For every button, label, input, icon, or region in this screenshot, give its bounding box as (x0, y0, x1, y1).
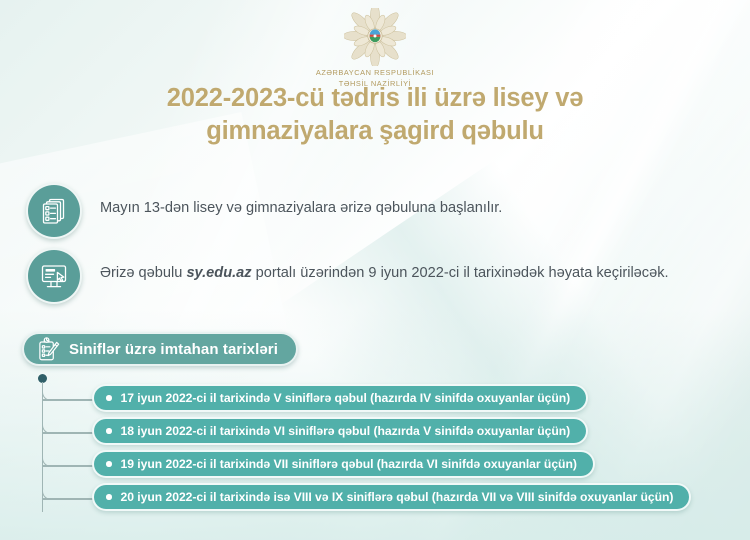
monitor-cursor-icon (26, 248, 82, 304)
list-item[interactable]: 18 iyun 2022-ci il tarixində VI siniflər… (92, 417, 588, 445)
list-item[interactable]: 19 iyun 2022-ci il tarixində VII siniflə… (92, 450, 595, 478)
list-item-label: 17 iyun 2022-ci il tarixində V siniflərə… (121, 391, 571, 405)
list-item-label: 20 iyun 2022-ci il tarixində isə VIII və… (121, 490, 674, 504)
azerbaijan-ministry-of-education-emblem-icon (344, 8, 406, 66)
bullet-icon (106, 494, 112, 500)
clipboard-pencil-icon (37, 337, 60, 362)
info-item-text-after: portalı üzərindən 9 iyun 2022-ci il tari… (252, 265, 669, 281)
list-item[interactable]: 17 iyun 2022-ci il tarixində V siniflərə… (92, 384, 588, 412)
page-title-line-2: gimnaziyalara şagird qəbulu (0, 115, 750, 148)
documents-checklist-icon (26, 183, 82, 239)
list-item-label: 19 iyun 2022-ci il tarixində VII siniflə… (121, 457, 577, 471)
page-title-line-1: 2022-2023-cü tədris ili üzrə lisey və (0, 82, 750, 115)
section-header-label: Siniflər üzrə imtahan tarixləri (69, 341, 278, 358)
list-item-label: 18 iyun 2022-ci il tarixində VI siniflər… (121, 424, 571, 438)
portal-domain: sy.edu.az (186, 265, 251, 281)
list-item[interactable]: 20 iyun 2022-ci il tarixində isə VIII və… (92, 483, 691, 511)
info-item-application-start: Mayın 13-dən lisey və gimnaziyalara əriz… (26, 183, 720, 239)
ministry-name-line-1: AZƏRBAYCAN RESPUBLİKASI (316, 68, 434, 79)
bullet-icon (106, 428, 112, 434)
info-item-text: Mayın 13-dən lisey və gimnaziyalara əriz… (100, 197, 502, 221)
info-item-text-main: Mayın 13-dən lisey və gimnaziyalara əriz… (100, 200, 502, 216)
bullet-icon (106, 395, 112, 401)
info-item-text-before: Ərizə qəbulu (100, 265, 186, 281)
page-title: 2022-2023-cü tədris ili üzrə lisey və gi… (0, 82, 750, 147)
section-header-exam-dates: Siniflər üzrə imtahan tarixləri (22, 332, 298, 366)
infographic-poster: AZƏRBAYCAN RESPUBLİKASI TƏHSİL NAZİRLİYİ… (0, 0, 750, 540)
info-item-portal-deadline: Ərizə qəbulu sy.edu.az portalı üzərindən… (26, 248, 720, 304)
info-item-text: Ərizə qəbulu sy.edu.az portalı üzərindən… (100, 262, 669, 286)
timeline-vertical-line (42, 382, 44, 512)
timeline-start-dot (38, 374, 47, 383)
exam-schedule-list: 17 iyun 2022-ci il tarixində V siniflərə… (92, 384, 740, 516)
ministry-logo: AZƏRBAYCAN RESPUBLİKASI TƏHSİL NAZİRLİYİ (0, 8, 750, 89)
bullet-icon (106, 461, 112, 467)
